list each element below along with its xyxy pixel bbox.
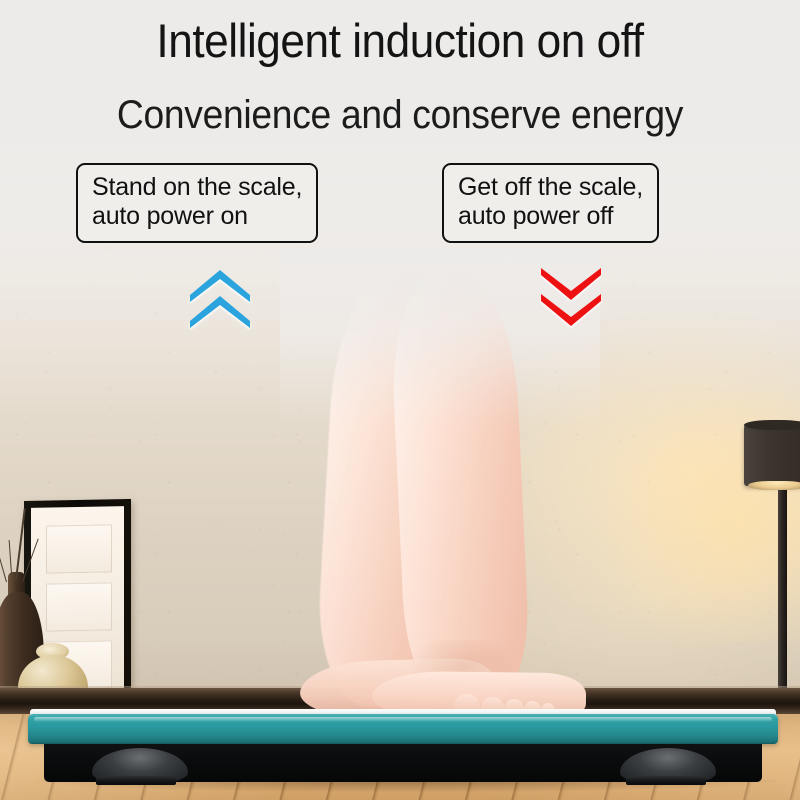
- callout-power-on: Stand on the scale, auto power on: [76, 163, 318, 243]
- page-title: Intelligent induction on off: [24, 14, 776, 68]
- header-block: Intelligent induction on off Convenience…: [0, 0, 800, 320]
- scale-pad-left: [96, 776, 176, 785]
- product-poster: Intelligent induction on off Convenience…: [0, 0, 800, 800]
- scale-pad-right: [626, 776, 706, 785]
- scale-glass-highlight: [34, 717, 772, 722]
- callout-power-on-line2: auto power on: [92, 202, 302, 231]
- callout-power-off-line2: auto power off: [458, 202, 643, 231]
- callout-power-off: Get off the scale, auto power off: [442, 163, 659, 243]
- page-subtitle: Convenience and conserve energy: [28, 90, 772, 140]
- callout-power-off-line1: Get off the scale,: [458, 173, 643, 201]
- chevron-double-up-icon: [188, 268, 252, 330]
- chevron-up-icon: [188, 294, 252, 328]
- chevron-double-down-icon: [539, 268, 603, 330]
- chevron-down-icon: [539, 294, 603, 328]
- callout-power-on-line1: Stand on the scale,: [92, 173, 302, 201]
